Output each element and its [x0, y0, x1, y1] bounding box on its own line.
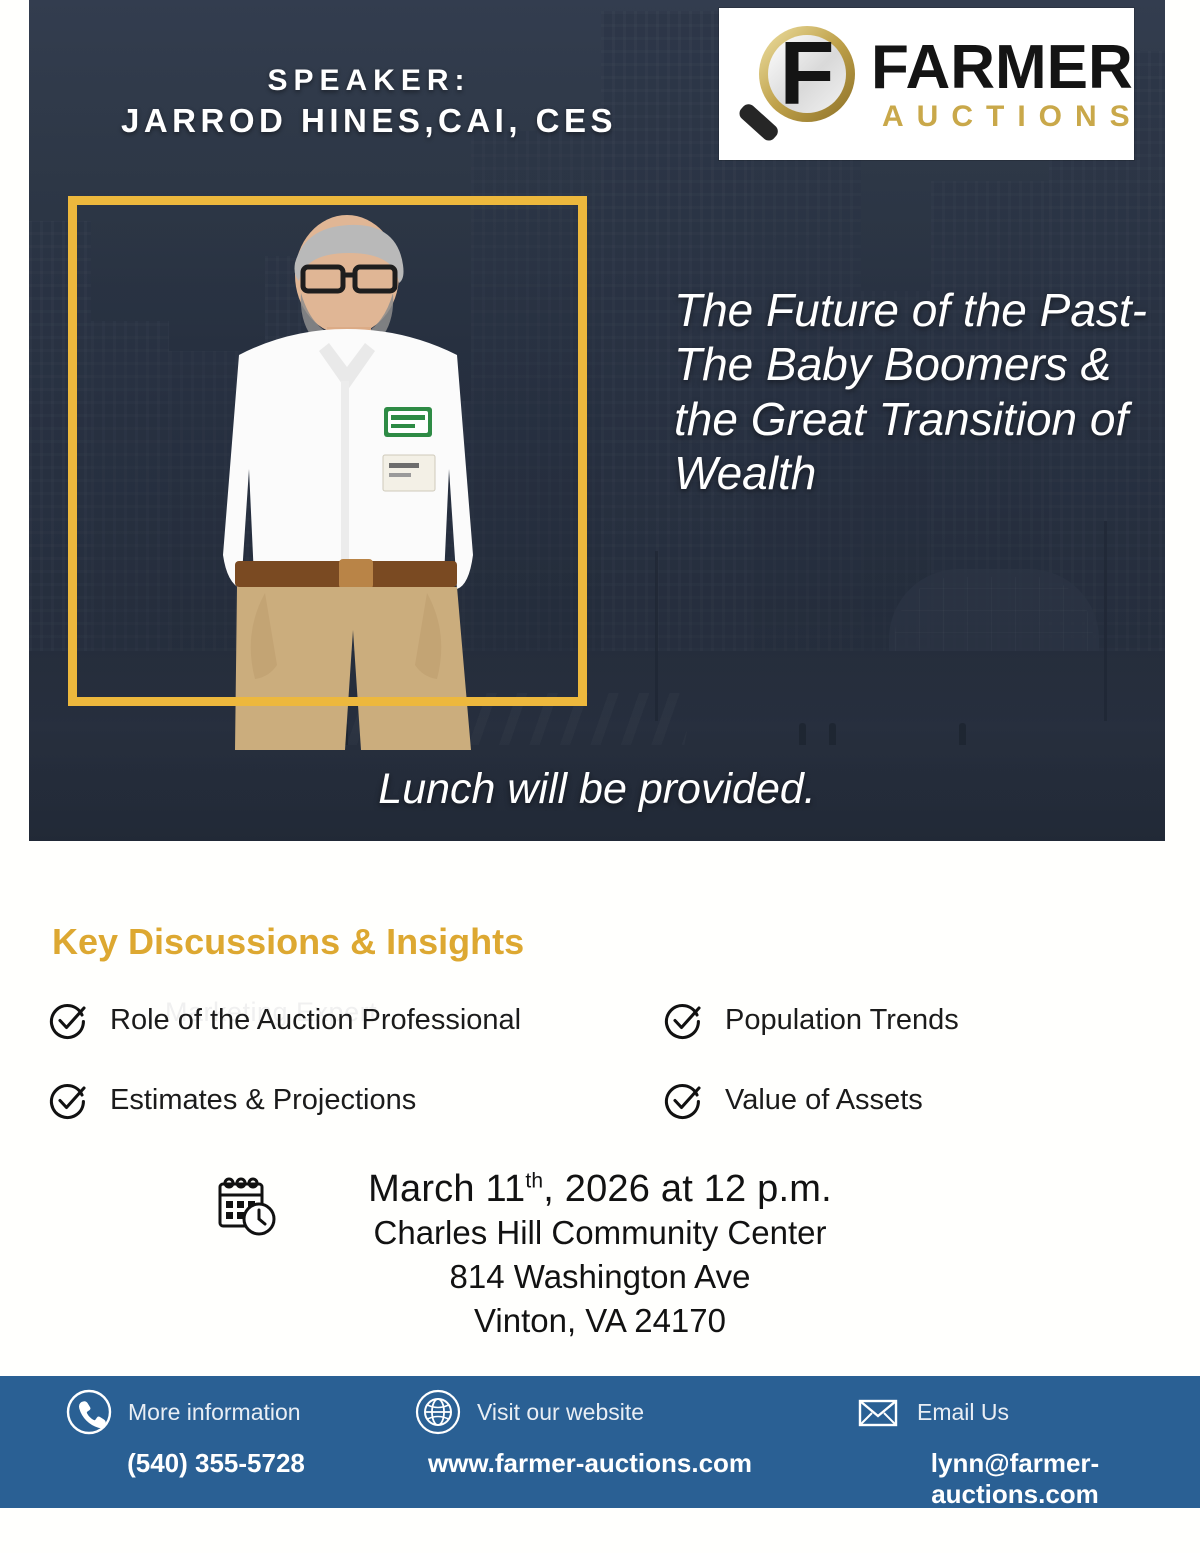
event-title: The Future of the Past-The Baby Boomers … [674, 283, 1165, 500]
speaker-prefix: SPEAKER: [59, 62, 679, 100]
key-discussions-heading: Key Discussions & Insights [52, 921, 524, 963]
globe-icon [415, 1389, 461, 1435]
phone-icon [66, 1389, 112, 1435]
event-city-state-zip: Vinton, VA 24170 [0, 1299, 1200, 1343]
bullet-item: Population Trends [663, 1000, 959, 1040]
logo-word-sub: AUCTIONS [882, 100, 1143, 134]
event-street: 814 Washington Ave [0, 1255, 1200, 1299]
bullet-label: Estimates & Projections [110, 1084, 416, 1117]
footer-item-website[interactable]: Visit our website www.farmer-auctions.co… [415, 1376, 765, 1508]
key-discussions-list: Role of the Auction Professional Populat… [48, 1000, 1108, 1160]
calendar-clock-icon [216, 1176, 278, 1238]
bullet-row: Role of the Auction Professional Populat… [48, 1000, 1108, 1040]
check-circle-icon [48, 1000, 88, 1040]
bullet-item: Role of the Auction Professional [48, 1000, 663, 1040]
event-venue: Charles Hill Community Center [0, 1211, 1200, 1255]
event-details: March 11th, 2026 at 12 p.m. Charles Hill… [0, 1168, 1200, 1343]
footer-item-phone[interactable]: More information (540) 355-5728 [66, 1376, 366, 1508]
event-date-ordinal: th [525, 1169, 543, 1192]
footer-label-email: Email Us [917, 1399, 1009, 1426]
lunch-note: Lunch will be provided. [29, 765, 1165, 814]
footer-value-website[interactable]: www.farmer-auctions.com [415, 1448, 765, 1479]
logo-word-main: FARMER [871, 32, 1133, 103]
event-date: March 11th, 2026 at 12 p.m. [0, 1168, 1200, 1211]
footer-label-phone: More information [128, 1399, 301, 1426]
envelope-icon [855, 1389, 901, 1435]
footer-item-email[interactable]: Email Us lynn@farmer-auctions.com [855, 1376, 1175, 1508]
portrait-gold-frame [68, 196, 587, 706]
farmer-auctions-logo[interactable]: F FARMER AUCTIONS [719, 8, 1134, 160]
check-circle-icon [48, 1080, 88, 1120]
footer-value-email[interactable]: lynn@farmer-auctions.com [855, 1448, 1175, 1510]
check-circle-icon [663, 1000, 703, 1040]
bullet-label: Value of Assets [725, 1084, 923, 1117]
bullet-item: Estimates & Projections [48, 1080, 663, 1120]
check-circle-icon [663, 1080, 703, 1120]
event-date-rest: , 2026 at 12 p.m. [543, 1168, 832, 1210]
svg-text:F: F [780, 24, 835, 124]
speaker-heading: SPEAKER: JARROD HINES,CAI, CES [59, 62, 679, 143]
bullet-label: Population Trends [725, 1004, 959, 1037]
magnifying-glass-icon: F [731, 18, 871, 153]
bullet-row: Estimates & Projections Value of Assets [48, 1080, 1108, 1120]
contact-footer: More information (540) 355-5728 Visit ou… [0, 1376, 1200, 1508]
bullet-item: Value of Assets [663, 1080, 923, 1120]
bullet-label: Role of the Auction Professional [110, 1004, 521, 1037]
event-date-prefix: March 11 [368, 1168, 525, 1210]
footer-value-phone[interactable]: (540) 355-5728 [66, 1448, 366, 1479]
speaker-name: JARROD HINES,CAI, CES [59, 100, 679, 142]
footer-label-website: Visit our website [477, 1399, 644, 1426]
hero-banner: SPEAKER: JARROD HINES,CAI, CES [29, 0, 1165, 841]
